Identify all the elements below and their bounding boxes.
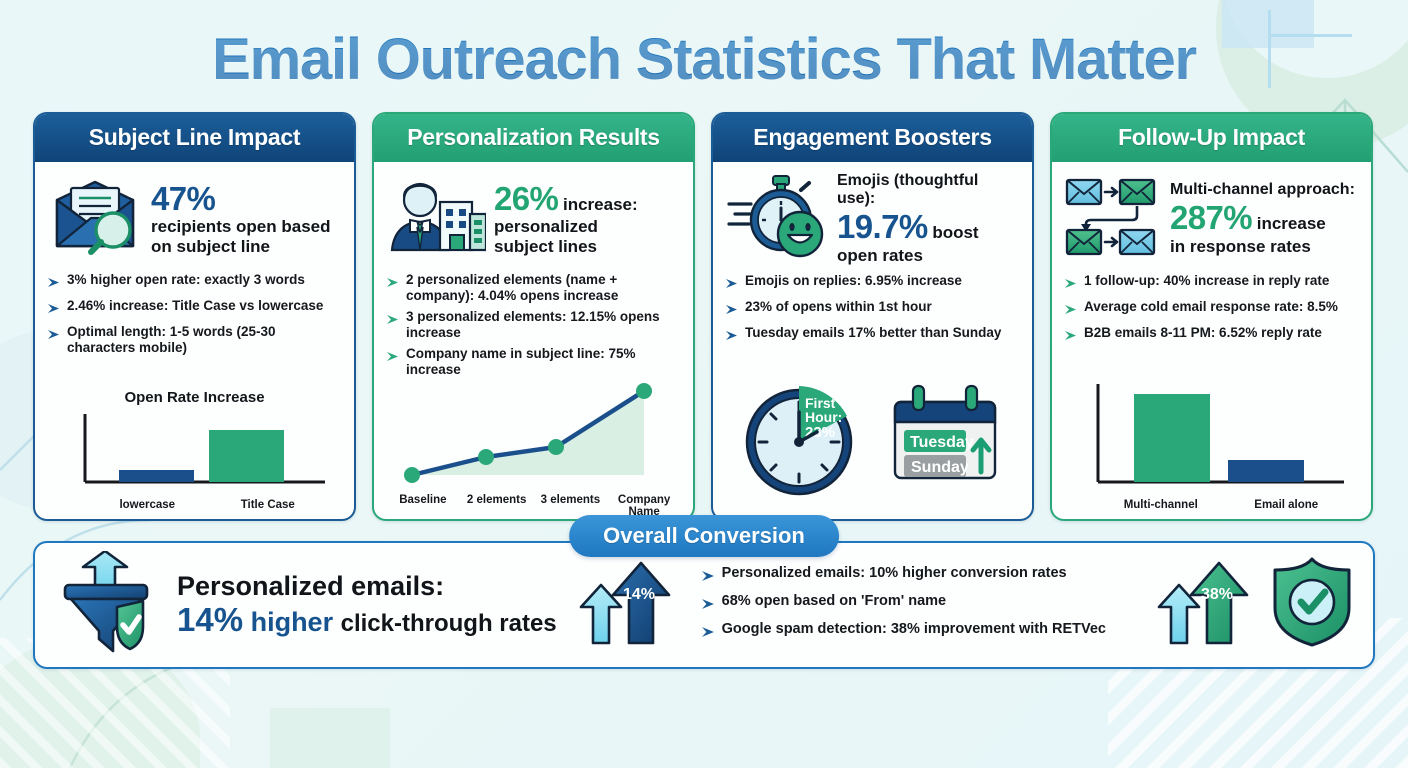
chart-title: Open Rate Increase (47, 389, 342, 406)
arrow-bullet-icon (386, 349, 399, 367)
stat-suffix: increase: (563, 195, 638, 214)
list-item: Google spam detection: 38% improvement w… (701, 622, 1147, 643)
arrow-bullet-icon (47, 275, 60, 293)
page-title: Email Outreach Statistics That Matter (0, 0, 1408, 91)
arrow-bullet-icon (1064, 302, 1077, 320)
list-item-label: 2.46% increase: Title Case vs lowercase (67, 298, 323, 314)
list-item-label: 1 follow-up: 40% increase in reply rate (1084, 273, 1329, 289)
headline-emphasis: higher (251, 607, 334, 637)
x-tick-label: Title Case (208, 499, 329, 511)
arrow-bullet-icon (725, 276, 738, 294)
funnel-shield-icon (57, 551, 161, 658)
list-item: Personalized emails: 10% higher conversi… (701, 566, 1147, 587)
list-item-label: Emojis on replies: 6.95% increase (745, 273, 962, 289)
stat-desc-line-1: personalized (494, 217, 638, 236)
overall-conversion-section: Overall Conversion (33, 541, 1375, 669)
arrow-bullet-icon (386, 312, 399, 330)
list-item-label: B2B emails 8-11 PM: 6.52% reply rate (1084, 325, 1322, 341)
card-body: Emojis (thoughtful use): 19.7% boost ope… (713, 162, 1032, 519)
list-item: 3 personalized elements: 12.15% opens in… (386, 309, 681, 341)
card-personalization-results: Personalization Results (372, 112, 695, 521)
hero-block: 47% recipients open based on subject lin… (47, 172, 342, 264)
chart-x-axis-labels: lowercase Title Case (47, 499, 342, 511)
data-point (548, 439, 564, 455)
card-header-title: Engagement Boosters (713, 114, 1032, 162)
hero-text: 26% increase: personalized subject lines (494, 180, 638, 256)
stat-value: 47% (151, 180, 215, 217)
list-item: 68% open based on 'From' name (701, 594, 1147, 615)
hero-text: Multi-channel approach: 287% increase in… (1170, 181, 1355, 256)
envelope-chain-icon (1064, 172, 1162, 265)
x-tick-label: lowercase (87, 499, 208, 511)
chart-personalization-line: Baseline 2 elements 3 elements Company N… (386, 377, 681, 518)
card-body: 47% recipients open based on subject lin… (35, 162, 354, 519)
list-item: Average cold email response rate: 8.5% (1064, 299, 1359, 320)
list-item-label: Google spam detection: 38% improvement w… (722, 622, 1106, 638)
hero-text: Emojis (thoughtful use): 19.7% boost ope… (837, 172, 1020, 265)
list-item-label: 3 personalized elements: 12.15% opens in… (406, 309, 681, 341)
bar-email-alone (1228, 460, 1304, 482)
x-tick-label: 2 elements (460, 494, 534, 518)
stat-desc-line-2: subject lines (494, 237, 638, 256)
stat-desc-line-1: in response rates (1170, 237, 1355, 256)
bullet-list: Emojis on replies: 6.95% increase 23% of… (725, 273, 1020, 346)
x-tick-label: Baseline (386, 494, 460, 518)
card-subject-line-impact: Subject Line Impact (33, 112, 356, 521)
shield-check-icon (1269, 556, 1355, 653)
list-item-label: Personalized emails: 10% higher conversi… (722, 566, 1067, 582)
arrow-bullet-icon (47, 301, 60, 319)
chart-open-rate-increase: Open Rate Increase lowercase Title Case (47, 389, 342, 511)
list-item: 3% higher open rate: exactly 3 words (47, 272, 342, 293)
arrow-right-label: 38% (1201, 586, 1233, 603)
bar-chart-canvas (47, 408, 339, 494)
hero-block: 26% increase: personalized subject lines (386, 172, 681, 264)
chart-x-axis-labels: Multi-channel Email alone (1064, 499, 1359, 511)
list-item: 23% of opens within 1st hour (725, 299, 1020, 320)
stat-desc-line-2: on subject line (151, 237, 331, 256)
dual-up-arrows-green-icon: 38% (1157, 557, 1253, 652)
stat-prefix: Emojis (thoughtful use): (837, 172, 1020, 208)
card-body: Multi-channel approach: 287% increase in… (1052, 162, 1371, 519)
list-item-label: Company name in subject line: 75% increa… (406, 346, 681, 378)
bullet-list: 1 follow-up: 40% increase in reply rate … (1064, 273, 1359, 346)
arrow-bullet-icon (725, 328, 738, 346)
stat-desc-line-1: recipients open based (151, 217, 331, 236)
list-item: B2B emails 8-11 PM: 6.52% reply rate (1064, 325, 1359, 346)
list-item-label: 3% higher open rate: exactly 3 words (67, 272, 305, 288)
chart-multichannel-bars: Multi-channel Email alone (1064, 378, 1359, 511)
stat-prefix: Multi-channel approach: (1170, 181, 1355, 199)
card-header-title: Subject Line Impact (35, 114, 354, 162)
list-item: 1 follow-up: 40% increase in reply rate (1064, 273, 1359, 294)
list-item: 2.46% increase: Title Case vs lowercase (47, 298, 342, 319)
arrow-bullet-icon (701, 569, 715, 587)
list-item-label: 2 personalized elements (name + company)… (406, 272, 681, 304)
arrow-bullet-icon (386, 275, 399, 293)
arrow-bullet-icon (701, 625, 715, 643)
list-item: Tuesday emails 17% better than Sunday (725, 325, 1020, 346)
list-item-label: Optimal length: 1-5 words (25-30 charact… (67, 324, 342, 356)
calendar-worst-day: Sunday (911, 459, 969, 476)
bar-multi-channel (1134, 394, 1210, 482)
bar-chart-canvas (1064, 378, 1356, 494)
wedge-label-line2: Hour: (805, 409, 842, 425)
dual-up-arrows-blue-icon: 14% (579, 557, 675, 652)
wedge-label-line3: 23% (805, 424, 835, 441)
bullet-list: 2 personalized elements (name + company)… (386, 272, 681, 378)
stopwatch-smiley-icon (725, 172, 829, 265)
card-header-title: Follow-Up Impact (1052, 114, 1371, 162)
conversion-headline: Personalized emails: 14% higher click-th… (177, 571, 557, 638)
list-item: Emojis on replies: 6.95% increase (725, 273, 1020, 294)
x-tick-label: Multi-channel (1098, 499, 1224, 511)
envelope-magnifier-icon (47, 172, 143, 263)
arrow-bullet-icon (1064, 328, 1077, 346)
arrow-left-label: 14% (623, 586, 655, 603)
list-item-label: Tuesday emails 17% better than Sunday (745, 325, 1001, 341)
list-item: Company name in subject line: 75% increa… (386, 346, 681, 378)
data-point (404, 467, 420, 483)
bar-lowercase (119, 470, 194, 482)
overall-conversion-badge: Overall Conversion (569, 515, 839, 557)
arrow-bullet-icon (47, 327, 60, 345)
arrow-bullet-icon (701, 597, 715, 615)
stat-value: 26% (494, 180, 558, 217)
calendar-best-day: Tuesday (910, 434, 974, 451)
card-engagement-boosters: Engagement Boosters (711, 112, 1034, 521)
arrow-bullet-icon (1064, 276, 1077, 294)
headline-rest: click-through rates (341, 610, 557, 637)
clock-first-hour-chart: First Hour: 23% (739, 374, 867, 507)
bullet-list: 3% higher open rate: exactly 3 words 2.4… (47, 272, 342, 356)
headline-line-1: Personalized emails: (177, 571, 557, 601)
card-body: 26% increase: personalized subject lines… (374, 162, 693, 521)
card-header-title: Personalization Results (374, 114, 693, 162)
data-point (478, 449, 494, 465)
line-chart-canvas (386, 377, 678, 489)
list-item-label: 68% open based on 'From' name (722, 594, 946, 610)
headline-number: 14% (177, 601, 243, 638)
list-item-label: 23% of opens within 1st hour (745, 299, 932, 315)
overall-conversion-panel: Personalized emails: 14% higher click-th… (33, 541, 1375, 669)
arrow-bullet-icon (725, 302, 738, 320)
hero-block: Multi-channel approach: 287% increase in… (1064, 172, 1359, 265)
calendar-best-day-graphic: Tuesday Sunday (885, 380, 1007, 501)
x-tick-label: Email alone (1224, 499, 1350, 511)
businessman-building-icon (386, 172, 486, 263)
hero-block: Emojis (thoughtful use): 19.7% boost ope… (725, 172, 1020, 265)
list-item-label: Average cold email response rate: 8.5% (1084, 299, 1338, 315)
stat-value: 19.7% (837, 208, 928, 245)
bar-title-case (209, 430, 284, 482)
card-follow-up-impact: Follow-Up Impact (1050, 112, 1373, 521)
card-row: Subject Line Impact (0, 91, 1408, 521)
stat-suffix: increase (1257, 214, 1326, 233)
hero-text: 47% recipients open based on subject lin… (151, 180, 331, 256)
engagement-graphics: First Hour: 23% (725, 374, 1020, 511)
infographic-root: Email Outreach Statistics That Matter Su… (0, 0, 1408, 768)
conversion-bullet-list: Personalized emails: 10% higher conversi… (701, 566, 1147, 643)
stat-desc-line-1: open rates (837, 246, 1020, 265)
stat-value: 287% (1170, 199, 1252, 236)
stat-suffix: boost (932, 223, 978, 242)
list-item: Optimal length: 1-5 words (25-30 charact… (47, 324, 342, 356)
data-point (636, 383, 652, 399)
list-item: 2 personalized elements (name + company)… (386, 272, 681, 304)
